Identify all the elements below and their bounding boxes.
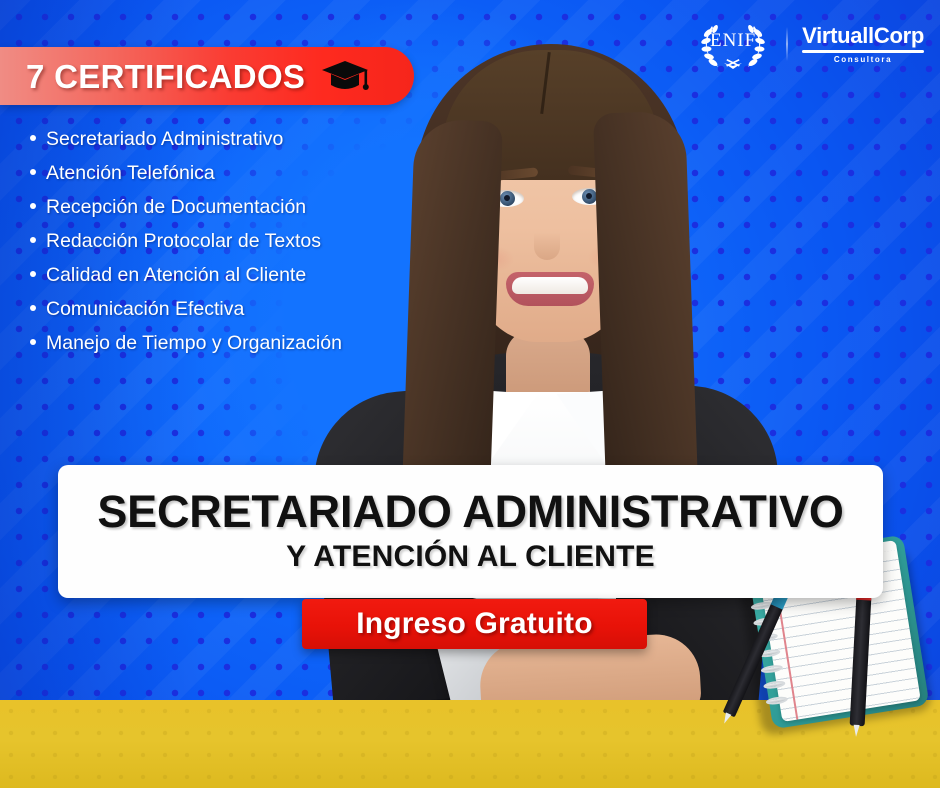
page-title: SECRETARIADO ADMINISTRATIVO — [97, 489, 843, 535]
bullet-dot-icon — [30, 169, 36, 175]
certificates-list: Secretariado Administrativo Atención Tel… — [30, 128, 430, 366]
red-pen-tip — [853, 725, 860, 737]
hair-strand-right — [593, 111, 699, 518]
free-enrollment-button[interactable]: Ingreso Gratuito — [302, 599, 647, 649]
list-item-label: Atención Telefónica — [46, 162, 215, 185]
graduation-cap-icon — [321, 59, 369, 93]
list-item: Secretariado Administrativo — [30, 128, 430, 151]
virtualcorp-logo[interactable]: VirtuallCorp Consultora — [802, 25, 924, 64]
free-enrollment-label: Ingreso Gratuito — [356, 607, 593, 641]
promotional-banner: ENIF VirtuallCorp Consultora 7 CERTIFICA… — [0, 0, 940, 788]
bullet-dot-icon — [30, 305, 36, 311]
smiling-mouth — [506, 272, 594, 306]
list-item: Manejo de Tiempo y Organización — [30, 332, 430, 355]
bullet-dot-icon — [30, 339, 36, 345]
list-item-label: Calidad en Atención al Cliente — [46, 264, 306, 287]
page-subtitle: Y ATENCIÓN AL CLIENTE — [286, 540, 655, 574]
virtualcorp-tagline: Consultora — [802, 55, 924, 64]
logo-group: ENIF VirtuallCorp Consultora — [694, 18, 924, 70]
virtualcorp-name: VirtuallCorp — [802, 25, 924, 47]
list-item-label: Manejo de Tiempo y Organización — [46, 332, 342, 355]
pupil-right — [586, 193, 592, 199]
list-item-label: Comunicación Efectiva — [46, 298, 244, 321]
nose — [534, 214, 560, 260]
list-item: Redacción Protocolar de Textos — [30, 230, 430, 253]
course-title-card: SECRETARIADO ADMINISTRATIVO Y ATENCIÓN A… — [58, 465, 883, 598]
certificates-badge[interactable]: 7 CERTIFICADOS — [0, 47, 414, 105]
pupil-left — [504, 195, 510, 201]
bullet-dot-icon — [30, 237, 36, 243]
list-item-label: Secretariado Administrativo — [46, 128, 283, 151]
enif-logo[interactable]: ENIF — [694, 18, 772, 70]
background-left-vignette — [0, 0, 200, 788]
list-item: Comunicación Efectiva — [30, 298, 430, 321]
list-item-label: Redacción Protocolar de Textos — [46, 230, 321, 253]
bullet-dot-icon — [30, 271, 36, 277]
list-item: Recepción de Documentación — [30, 196, 430, 219]
certificates-badge-label: 7 CERTIFICADOS — [26, 60, 305, 93]
teeth — [512, 277, 588, 294]
list-item: Atención Telefónica — [30, 162, 430, 185]
virtualcorp-underline — [802, 50, 924, 53]
logo-divider — [786, 27, 788, 61]
list-item-label: Recepción de Documentación — [46, 196, 306, 219]
bullet-dot-icon — [30, 135, 36, 141]
bullet-dot-icon — [30, 203, 36, 209]
enif-logo-text: ENIF — [694, 30, 772, 52]
list-item: Calidad en Atención al Cliente — [30, 264, 430, 287]
